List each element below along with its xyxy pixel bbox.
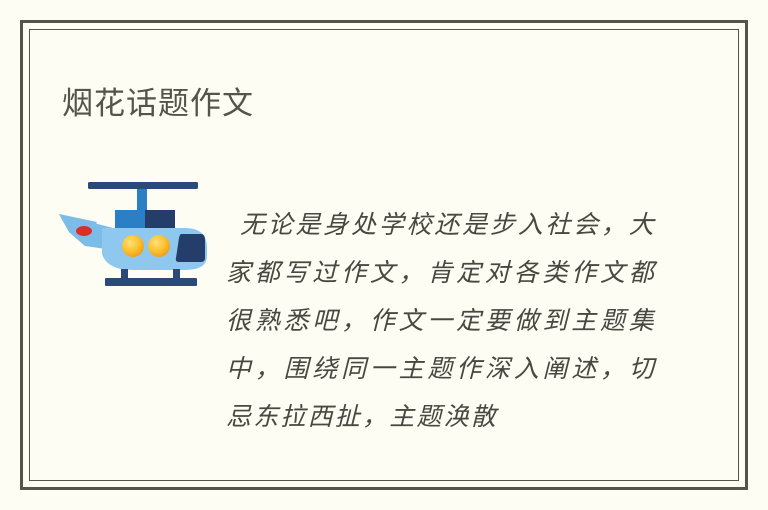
landing-strut-icon [121,269,128,279]
engine-block-left-icon [115,210,145,230]
article-card-inner-border: 烟花话题作文 [29,29,739,481]
article-paragraph: 无论是身处学校还是步入社会，大家都写过作文，肯定对各类作文都很熟悉吧，作文一定要… [226,201,656,441]
helicopter-illustration [55,170,220,290]
page-title: 烟花话题作文 [62,85,254,124]
article-content: 无论是身处学校还是步入社会，大家都写过作文，肯定对各类作文都很熟悉吧，作文一定要… [30,150,738,480]
landing-skid-icon [105,278,197,286]
tail-light-icon [76,226,92,236]
article-card: 烟花话题作文 [20,20,748,490]
passenger-window-icon [148,235,170,257]
rotor-blade-icon [88,182,198,189]
rotor-mast-icon [137,189,147,212]
landing-strut-icon [173,269,180,279]
cockpit-windshield-icon [176,234,205,262]
passenger-window-icon [122,235,144,257]
engine-block-right-icon [145,210,175,230]
